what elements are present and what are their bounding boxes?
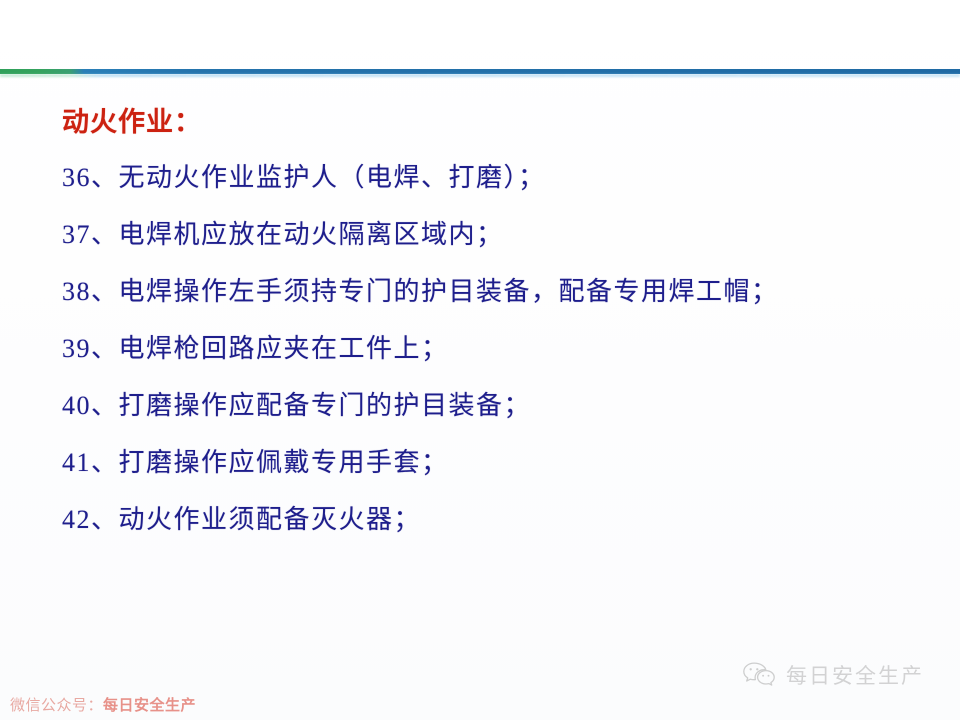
wechat-icon [742, 661, 776, 689]
header-divider-glow [0, 74, 960, 77]
list-item: 41、打磨操作应佩戴专用手套； [62, 443, 942, 500]
logo-text: 每日安全生产 [786, 660, 924, 690]
rules-list: 36、无动火作业监护人（电焊、打磨）； 37、电焊机应放在动火隔离区域内； 38… [62, 158, 942, 557]
list-item: 38、电焊操作左手须持专门的护目装备，配备专用焊工帽； [62, 272, 942, 329]
channel-watermark: 微信公众号：每日安全生产 [10, 694, 196, 715]
list-item: 36、无动火作业监护人（电焊、打磨）； [62, 158, 942, 215]
page-title: 动火作业： [62, 100, 202, 139]
list-item: 40、打磨操作应配备专门的护目装备； [62, 386, 942, 443]
slide-canvas: 动火作业： 36、无动火作业监护人（电焊、打磨）； 37、电焊机应放在动火隔离区… [0, 0, 960, 720]
channel-watermark-label: 微信公众号： [10, 698, 103, 714]
logo-badge: 每日安全生产 [742, 660, 924, 690]
list-item: 42、动火作业须配备灭火器； [62, 500, 942, 557]
list-item: 39、电焊枪回路应夹在工件上； [62, 329, 942, 386]
channel-watermark-name: 每日安全生产 [103, 698, 196, 714]
list-item: 37、电焊机应放在动火隔离区域内； [62, 215, 942, 272]
